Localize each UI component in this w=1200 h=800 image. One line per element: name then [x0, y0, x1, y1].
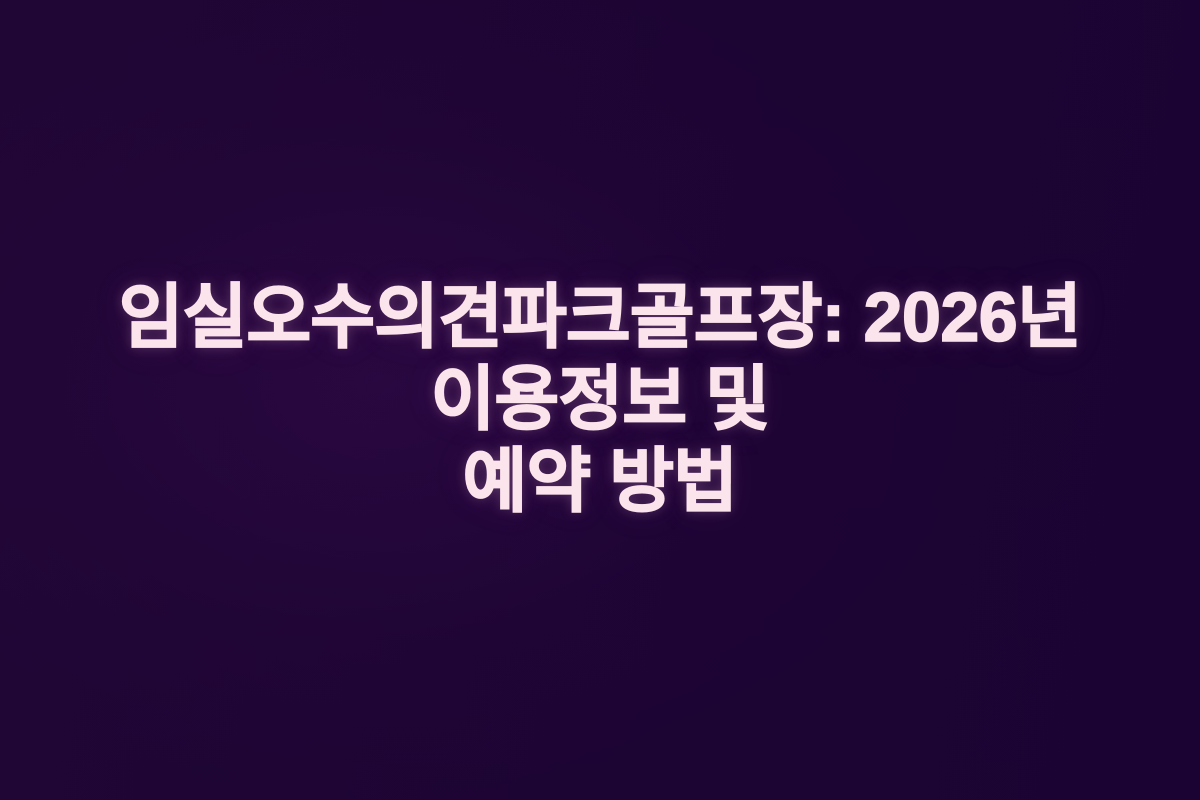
title-card: 임실오수의견파크골프장: 2026년 이용정보 및 예약 방법 [0, 0, 1200, 800]
page-title-line-2: 이용정보 및 [48, 359, 1152, 441]
page-title-line-1: 임실오수의견파크골프장: 2026년 [48, 277, 1152, 359]
page-title: 임실오수의견파크골프장: 2026년 이용정보 및 예약 방법 [48, 277, 1152, 523]
page-title-line-3: 예약 방법 [48, 441, 1152, 523]
